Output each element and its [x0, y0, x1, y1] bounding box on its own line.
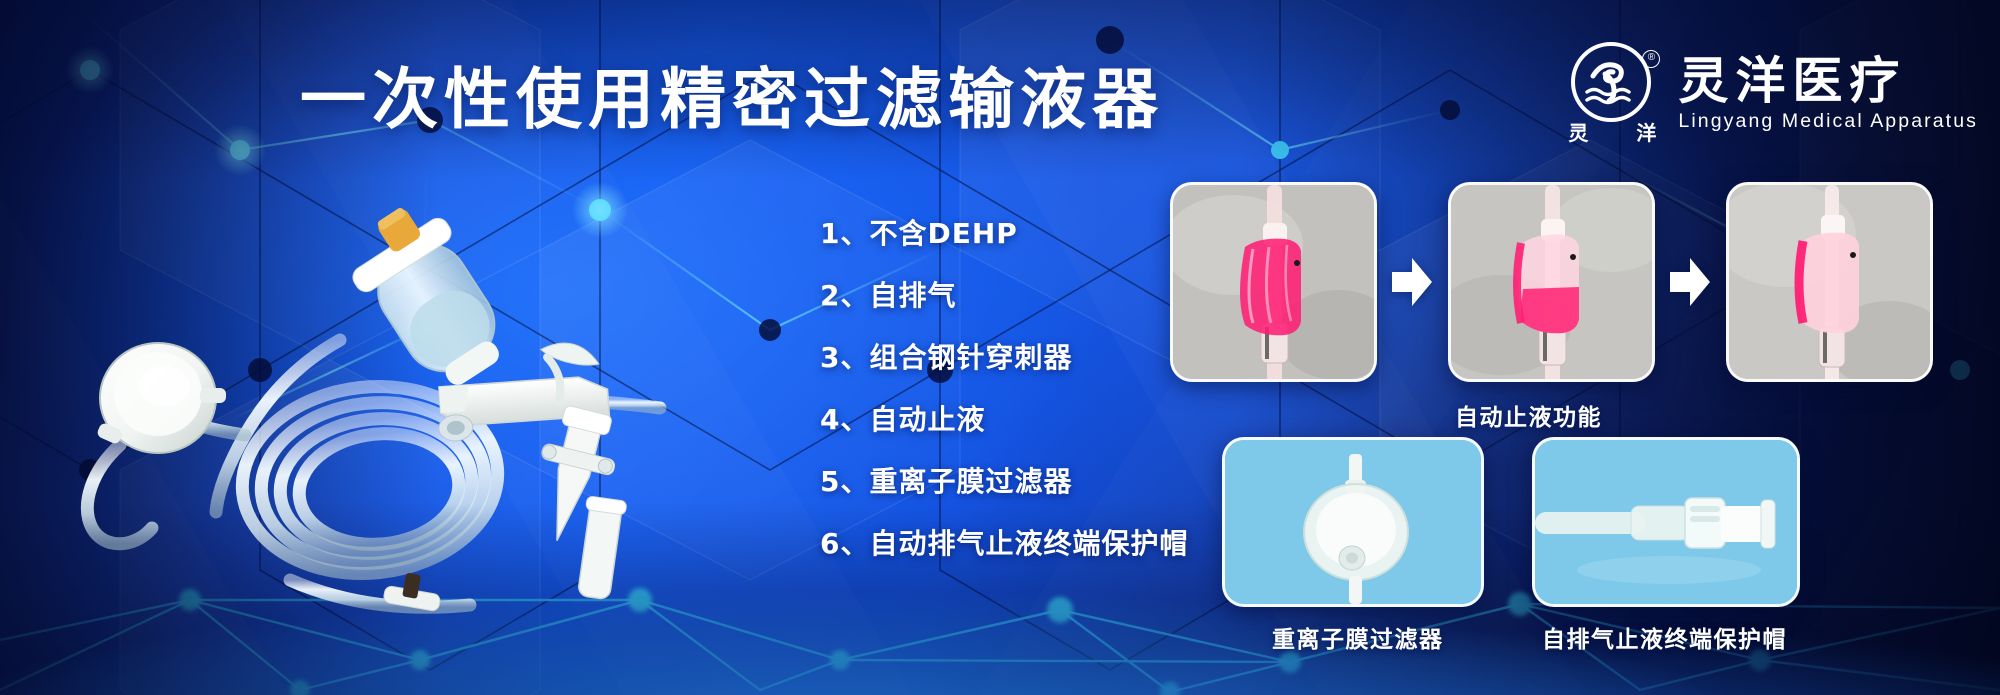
auto-stop-caption: 自动止液功能	[1455, 398, 1602, 432]
registered-trademark-icon: ®	[1642, 50, 1660, 68]
logo-emblem-char-left: 灵	[1568, 117, 1588, 146]
sequence-arrow-1-icon	[1392, 256, 1432, 308]
auto-stop-frame-1	[1170, 182, 1377, 382]
brand-name-en: Lingyang Medical Apparatus	[1678, 110, 1978, 133]
feature-item-6: 6、自动排气止液终端保护帽	[820, 522, 1188, 562]
auto-stop-frame-3	[1726, 182, 1933, 382]
logo-emblem-icon: ® 灵 洋	[1564, 42, 1660, 146]
feature-list: 1、不含DEHP 2、自排气 3、组合钢针穿刺器 4、自动止液 5、重离子膜过滤…	[820, 212, 1188, 562]
filter-card-caption: 重离子膜过滤器	[1272, 620, 1444, 654]
page-title: 一次性使用精密过滤输液器	[300, 46, 1164, 142]
logo-emblem-char-right: 洋	[1636, 117, 1656, 146]
brand-logo: ® 灵 洋 灵洋医疗 Lingyang Medical Apparatus	[1564, 42, 1978, 146]
filter-body-shape	[96, 343, 226, 453]
feature-item-3: 3、组合钢针穿刺器	[820, 336, 1188, 376]
filter-card-photo	[1222, 437, 1484, 607]
product-banner: 一次性使用精密过滤输液器 ® 灵 洋 灵洋医疗 Lingyang Medical…	[0, 0, 2000, 695]
product-photo	[40, 150, 780, 650]
feature-item-5: 5、重离子膜过滤器	[820, 460, 1188, 500]
terminal-cap-card-photo	[1532, 437, 1800, 607]
auto-stop-frame-2	[1448, 182, 1655, 382]
logo-wave-mark-icon	[1575, 46, 1647, 118]
feature-item-1: 1、不含DEHP	[820, 212, 1188, 252]
sequence-arrow-2-icon	[1670, 256, 1710, 308]
terminal-cap-card-caption: 自排气止液终端保护帽	[1542, 620, 1787, 654]
feature-item-4: 4、自动止液	[820, 398, 1188, 438]
brand-name-cn: 灵洋医疗	[1678, 55, 1978, 108]
feature-item-2: 2、自排气	[820, 274, 1188, 314]
